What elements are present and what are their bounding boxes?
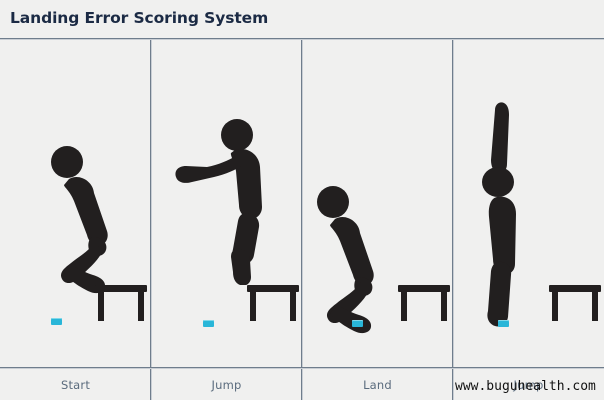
panel-jump-vertical [453,40,604,368]
stage-land [302,40,453,368]
landing-marker [498,320,509,327]
panel-start [0,40,151,368]
less-diagram-page: Landing Error Scoring System [0,0,604,400]
panel-land [302,40,453,368]
watermark: www.buguhealth.com [455,379,596,394]
bench-top [247,285,299,292]
athlete-crouched-on-box-icon [46,145,118,295]
bench-leg-left [401,292,407,321]
bench-leg-left [250,292,256,321]
box-bench [95,285,147,321]
athlete-vertical-jump-arms-up-icon [477,102,525,327]
panel-jump-forward [151,40,302,368]
page-title: Landing Error Scoring System [10,9,268,27]
bench-leg-right [138,292,144,321]
stage-start [0,40,151,368]
bench-leg-right [441,292,447,321]
bench-top [549,285,601,292]
box-bench [549,285,601,321]
stage-jump-vertical [453,40,604,368]
panel-label-land: Land [363,378,392,392]
landing-marker [203,320,214,327]
athlete-leaning-forward-arms-out-icon [174,115,282,285]
bench-top [95,285,147,292]
athlete-landing-crouch-icon [312,185,384,335]
bench-leg-left [98,292,104,321]
panel-label-jump: Jump [212,378,242,392]
bench-top [398,285,450,292]
stage-jump-forward [151,40,302,368]
landing-marker [51,318,62,325]
box-bench [247,285,299,321]
landing-marker [352,320,363,327]
label-cell-land: Land [302,369,453,400]
bench-leg-right [290,292,296,321]
bench-leg-right [592,292,598,321]
bench-leg-left [552,292,558,321]
label-cell-start: Start [0,369,151,400]
label-cell-jump: Jump [151,369,302,400]
panel-label-start: Start [61,378,90,392]
box-bench [398,285,450,321]
header: Landing Error Scoring System [0,0,604,39]
